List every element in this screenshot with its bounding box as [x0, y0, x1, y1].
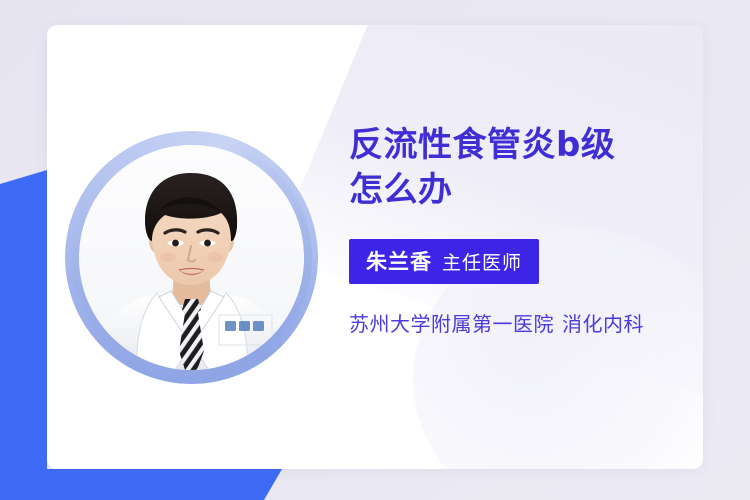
doctor-name-badge: 朱兰香主任医师 — [349, 239, 539, 284]
doctor-name: 朱兰香 — [366, 250, 432, 274]
video-title: 反流性食管炎b级 怎么办 — [349, 123, 689, 213]
info-column: 反流性食管炎b级 怎么办 朱兰香主任医师 苏州大学附属第一医院消化内科 — [349, 123, 689, 337]
thumbnail-canvas: 反流性食管炎b级 怎么办 朱兰香主任医师 苏州大学附属第一医院消化内科 — [0, 0, 750, 500]
doctor-rank: 主任医师 — [442, 252, 522, 274]
department-name: 消化内科 — [562, 312, 644, 336]
doctor-photo — [79, 145, 304, 370]
hospital-name: 苏州大学附属第一医院 — [349, 312, 554, 336]
doctor-affiliation: 苏州大学附属第一医院消化内科 — [349, 308, 689, 337]
decorative-left-blue-bar — [0, 170, 47, 480]
doctor-portrait — [65, 131, 318, 384]
decorative-bottom-blue-bar — [0, 469, 282, 500]
doctor-info-card: 反流性食管炎b级 怎么办 朱兰香主任医师 苏州大学附属第一医院消化内科 — [47, 25, 703, 469]
